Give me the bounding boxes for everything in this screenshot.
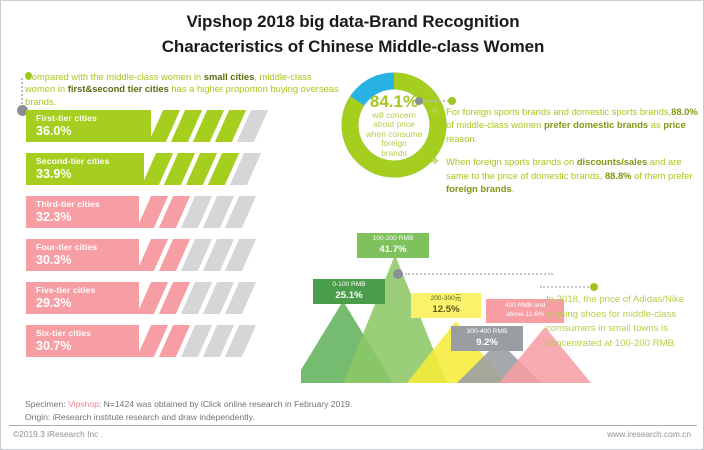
bar-value-label: 30.7% <box>36 339 139 354</box>
mountain-value-tag: 100-200 RMB41.7% <box>357 233 429 258</box>
bar-fill: Five-tier cities29.3% <box>26 282 139 314</box>
bar-category-label: Six-tier cities <box>36 327 139 339</box>
bar-category-label: Second-tier cities <box>36 155 144 167</box>
bar-fill: First-tier cities36.0% <box>26 110 151 142</box>
bar-category-label: Five-tier cities <box>36 284 139 296</box>
rb-connector-icon <box>534 283 604 291</box>
b2-b3: foreign brands <box>446 183 512 194</box>
mountain-value-tag: 0-100 RMB25.1% <box>313 279 385 304</box>
mountain-tag-value: 9.2% <box>457 337 517 348</box>
bullet-item: ❖For foreign sports brands and domestic … <box>431 105 699 145</box>
mountain-tag-category: 0-100 RMB <box>319 281 379 290</box>
title-line-2: Characteristics of Chinese Middle-class … <box>1 34 704 59</box>
left-callout-connector-icon <box>17 72 27 114</box>
b1-t2: of middle-class women <box>446 119 544 130</box>
b1-t3: as <box>648 119 663 130</box>
bar-value-label: 33.9% <box>36 167 144 182</box>
b1-b2: prefer domestic brands <box>544 119 648 130</box>
bar-row: Five-tier cities29.3% <box>26 282 296 314</box>
connector-dot-green-icon <box>590 283 598 291</box>
specimen-rest: : N=1424 was obtained by iClick online r… <box>99 399 352 409</box>
bullet-connector-icon <box>415 97 455 105</box>
bar-value-label: 32.3% <box>36 210 139 225</box>
bar-fill: Four-tier cities30.3% <box>26 239 139 271</box>
specimen-prefix: Specimen: <box>25 399 68 409</box>
connector-dot-green-icon <box>25 72 32 79</box>
bar-fill: Second-tier cities33.9% <box>26 153 144 185</box>
copyright-text: ©2019.3 iResearch Inc . <box>13 429 103 439</box>
website-text[interactable]: www.iresearch.com.cn <box>607 429 691 439</box>
page-title: Vipshop 2018 big data-Brand Recognition … <box>1 9 704 59</box>
b1-t1: For foreign sports brands and domestic s… <box>446 106 671 117</box>
mountain-tag-category: 300-400 RMB <box>457 328 517 337</box>
bar-row: First-tier cities36.0% <box>26 110 296 142</box>
bar-category-label: Four-tier cities <box>36 241 139 253</box>
bar-row: Second-tier cities33.9% <box>26 153 296 185</box>
bar-value-label: 36.0% <box>36 124 151 139</box>
b2-b1: discounts/sales <box>577 156 647 167</box>
city-tier-bar-chart: First-tier cities36.0%Second-tier cities… <box>26 110 296 368</box>
bullet-item: ❖When foreign sports brands on discounts… <box>431 155 699 195</box>
footer-origin: Origin: iResearch institute research and… <box>25 411 685 424</box>
footer-notes: Specimen: Vipshop: N=1424 was obtained b… <box>25 398 685 424</box>
bar-fill: Six-tier cities30.7% <box>26 325 139 357</box>
bar-row: Four-tier cities30.3% <box>26 239 296 271</box>
bar-row: Third-tier cities32.3% <box>26 196 296 228</box>
connector-dot-green-icon <box>448 97 456 105</box>
right-callout-text: In 2018, the price of Adidas/Nike runnin… <box>546 294 684 349</box>
left-callout: Compared with the middle-class women in … <box>25 71 343 108</box>
bar-category-label: First-tier cities <box>36 112 151 124</box>
lc-t1: Compared with the middle-class women in <box>25 71 204 82</box>
diamond-bullet-icon: ❖ <box>431 105 439 118</box>
b2-t3: of them prefer <box>632 170 693 181</box>
mountain-tag-value: 12.5% <box>417 304 475 315</box>
footer-divider <box>9 425 697 426</box>
bar-row: Six-tier cities30.7% <box>26 325 296 357</box>
right-bullet-list: ❖For foreign sports brands and domestic … <box>431 105 699 205</box>
connector-dot-gray-icon <box>415 97 423 105</box>
b1-t4: reason. <box>446 133 477 144</box>
left-callout-text: Compared with the middle-class women in … <box>25 71 343 108</box>
diamond-bullet-icon: ❖ <box>431 155 439 168</box>
b2-t1: When foreign sports brands on <box>446 156 577 167</box>
bar-fill: Third-tier cities32.3% <box>26 196 139 228</box>
bar-value-label: 29.3% <box>36 296 139 311</box>
mountain-tag-category: 200-300元 <box>417 295 475 304</box>
donut-percent: 84.1% <box>370 92 418 111</box>
mountain-value-tag: 300-400 RMB9.2% <box>451 326 523 351</box>
mountain-tag-value: 41.7% <box>363 244 423 255</box>
bar-category-label: Third-tier cities <box>36 198 139 210</box>
b2-t4: . <box>512 183 515 194</box>
lc-b1: small cities <box>204 71 255 82</box>
right-bottom-callout: In 2018, the price of Adidas/Nike runnin… <box>546 293 701 351</box>
infographic-page: Vipshop 2018 big data-Brand Recognition … <box>0 0 704 450</box>
footer-specimen: Specimen: Vipshop: N=1424 was obtained b… <box>25 398 685 411</box>
mountain-tag-value: 25.1% <box>319 290 379 301</box>
mountain-value-tag: 200-300元12.5% <box>411 293 481 318</box>
title-line-1: Vipshop 2018 big data-Brand Recognition <box>1 9 704 34</box>
b1-b1: 88.0% <box>671 106 698 117</box>
specimen-brand: Vipshop <box>68 399 99 409</box>
b2-b2: 88.8% <box>605 170 632 181</box>
mountain-connector-icon <box>393 269 553 279</box>
donut-sub-5: brands <box>381 149 407 159</box>
b1-b3: price <box>663 119 685 130</box>
lc-b2: first&second tier cities <box>68 83 169 94</box>
bar-value-label: 30.3% <box>36 253 139 268</box>
mountain-tag-category: 100-200 RMB <box>363 235 423 244</box>
